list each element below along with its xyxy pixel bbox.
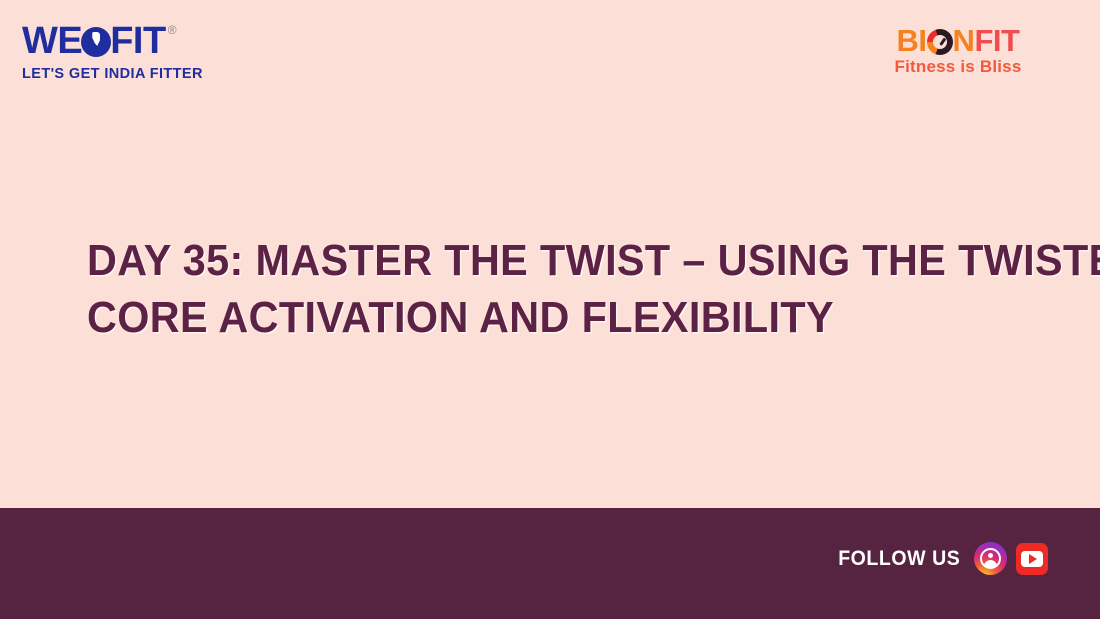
bionfit-part-2: N (953, 26, 975, 56)
social-icons (974, 542, 1048, 575)
footer-bar: FOLLOW US (0, 508, 1100, 619)
bionfit-wordmark: BINFIT (888, 26, 1028, 56)
bionfit-part-1: BI (897, 26, 927, 56)
wefit-word-after: FIT (110, 22, 165, 60)
instagram-icon[interactable] (974, 542, 1007, 575)
speedometer-gauge-icon (927, 29, 953, 55)
registered-trademark-icon: ® (168, 24, 177, 36)
title-line-2: CORE ACTIVATION AND FLEXIBILITY (87, 289, 933, 346)
youtube-icon[interactable] (1016, 543, 1048, 575)
page-title: DAY 35: MASTER THE TWIST – USING THE TWI… (87, 232, 987, 346)
wefit-word-before: WE (22, 22, 82, 60)
wefit-logo[interactable]: WEFIT® LET'S GET INDIA FITTER (22, 22, 222, 84)
india-map-circle-icon (81, 27, 111, 57)
follow-us-label: FOLLOW US (838, 547, 960, 571)
wefit-wordmark: WEFIT® (22, 22, 222, 60)
header-bar: WEFIT® LET'S GET INDIA FITTER BINFIT Fit… (0, 0, 1100, 100)
follow-us-group: FOLLOW US (829, 542, 1048, 575)
bionfit-tagline: Fitness is Bliss (888, 57, 1028, 77)
title-line-1: DAY 35: MASTER THE TWIST – USING THE TWI… (87, 232, 933, 289)
bionfit-part-3: FIT (974, 26, 1019, 56)
wefit-tagline: LET'S GET INDIA FITTER (22, 66, 222, 82)
bionfit-logo[interactable]: BINFIT Fitness is Bliss (888, 26, 1028, 80)
slide-canvas: WEFIT® LET'S GET INDIA FITTER BINFIT Fit… (0, 0, 1100, 619)
